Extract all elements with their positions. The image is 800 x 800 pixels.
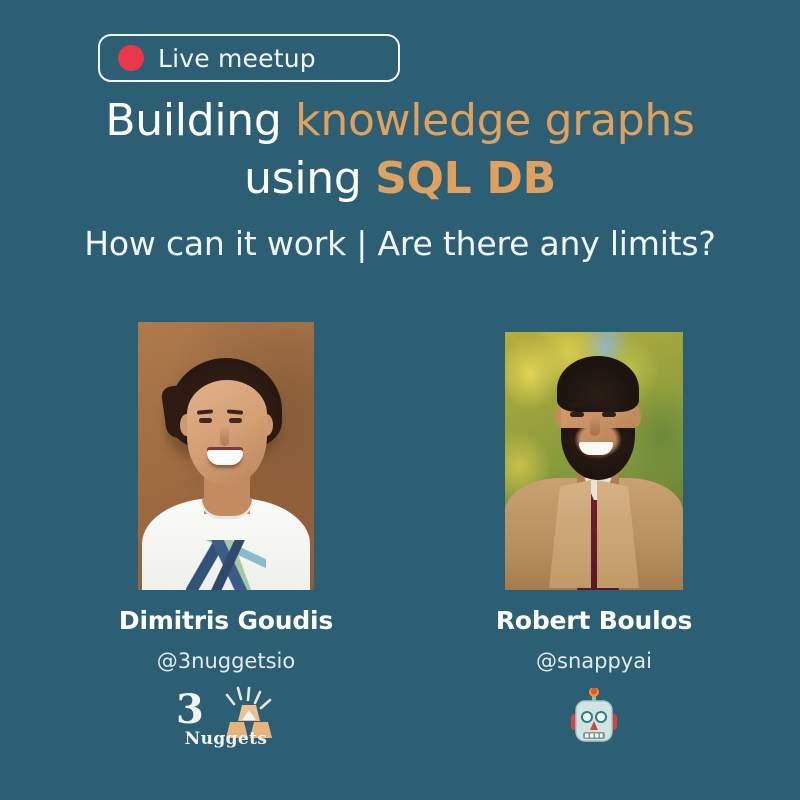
photo-nose bbox=[590, 418, 600, 436]
speaker-logo-slot bbox=[414, 684, 774, 750]
subtitle: How can it work | Are there any limits? bbox=[60, 218, 740, 269]
live-meetup-badge[interactable]: Live meetup bbox=[98, 34, 400, 82]
speaker-photo-robert-boulos bbox=[505, 332, 683, 590]
speaker-handle[interactable]: @3nuggetsio bbox=[46, 651, 406, 672]
photo-shirt-graphic bbox=[186, 540, 266, 590]
logo-word-nuggets: Nuggets bbox=[174, 731, 278, 748]
headline-word-using: using bbox=[244, 153, 375, 204]
photo-eye-left bbox=[199, 418, 212, 423]
photo-eye-right bbox=[602, 412, 616, 417]
photo-eye-left bbox=[570, 412, 584, 417]
speaker-name: Robert Boulos bbox=[414, 608, 774, 633]
headline-phrase-sql-db: SQL DB bbox=[375, 153, 556, 204]
live-meetup-label: Live meetup bbox=[158, 46, 316, 71]
photo-eye-right bbox=[229, 418, 242, 423]
robot-face-icon bbox=[567, 688, 621, 746]
photo-smile bbox=[579, 442, 613, 455]
speaker-handle[interactable]: @snappyai bbox=[414, 651, 774, 672]
speaker-card-robert-boulos: Robert Boulos @snappyai bbox=[414, 320, 774, 750]
headline: Building knowledge graphs using SQL DB bbox=[0, 92, 800, 208]
photo-nose bbox=[220, 426, 229, 446]
photo-smile bbox=[207, 450, 243, 465]
speaker-name: Dimitris Goudis bbox=[46, 608, 406, 633]
three-nuggets-logo-icon: 3 Nuggets bbox=[174, 686, 278, 748]
speaker-logo-slot: 3 Nuggets bbox=[46, 684, 406, 750]
logo-number-three: 3 bbox=[176, 690, 204, 730]
speaker-card-dimitris-goudis: Dimitris Goudis @3nuggetsio bbox=[46, 320, 406, 750]
event-poster: Live meetup Building knowledge graphs us… bbox=[0, 0, 800, 800]
live-record-dot-icon bbox=[118, 45, 144, 71]
headline-word-building: Building bbox=[105, 95, 295, 146]
speaker-photo-dimitris-goudis bbox=[138, 322, 314, 590]
headline-phrase-knowledge-graphs: knowledge graphs bbox=[295, 95, 694, 146]
